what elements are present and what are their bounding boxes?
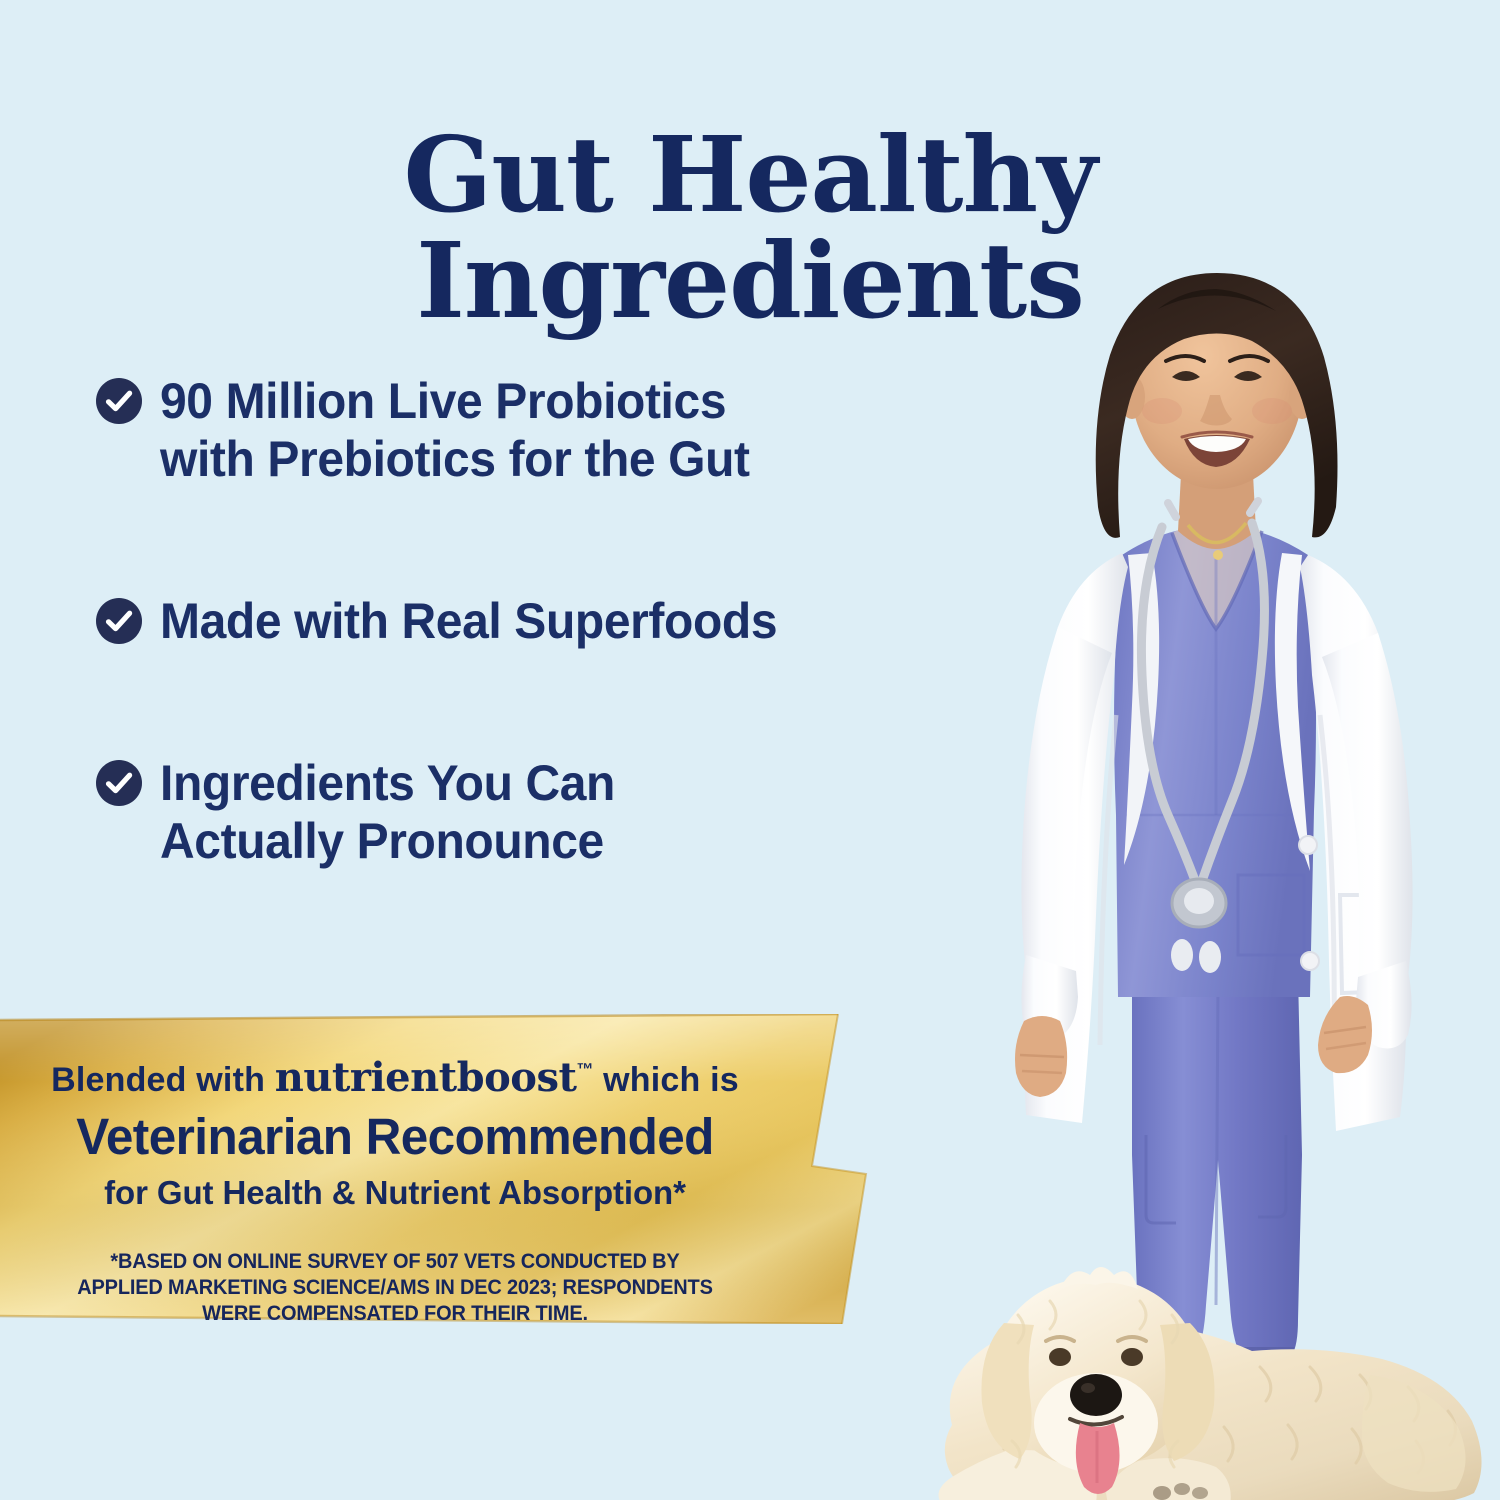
banner-footnote: *BASED ON ONLINE SURVEY OF 507 VETS COND… <box>28 1248 763 1327</box>
banner-line-1: Blended with nutrientboost™ which is <box>0 1054 790 1101</box>
benefit-text: Ingredients You Can Actually Pronounce <box>160 754 615 870</box>
page-title-line-1: Gut Healthy <box>403 113 1096 236</box>
list-item: 90 Million Live Probiotics with Prebioti… <box>96 372 956 488</box>
banner-line-1-prefix: Blended with <box>51 1061 265 1099</box>
page-title: Gut Healthy Ingredients <box>0 122 1500 334</box>
banner-content: Blended with nutrientboost™ which is Vet… <box>0 1014 790 1327</box>
benefit-line-1: 90 Million Live Probiotics <box>160 373 726 429</box>
trademark-symbol: ™ <box>576 1060 593 1079</box>
list-item: Made with Real Superfoods <box>96 592 956 650</box>
check-circle-icon <box>96 378 142 424</box>
banner-headline: Veterinarian Recommended <box>12 1107 778 1166</box>
banner-line-1-suffix: which is <box>603 1061 739 1099</box>
check-circle-icon <box>96 760 142 806</box>
benefit-line-2: Actually Pronounce <box>160 813 604 869</box>
benefit-line-1: Ingredients You Can <box>160 755 615 811</box>
veterinarian-and-dog-photo <box>900 255 1500 1500</box>
benefit-text: 90 Million Live Probiotics with Prebioti… <box>160 372 750 488</box>
benefit-line-1: Made with Real Superfoods <box>160 593 777 649</box>
page-title-line-2: Ingredients <box>0 228 1500 334</box>
benefit-text: Made with Real Superfoods <box>160 592 777 650</box>
vet-recommended-banner: Blended with nutrientboost™ which is Vet… <box>0 1014 880 1324</box>
product-feature-image: Gut Healthy Ingredients 90 Million Live … <box>0 0 1500 1500</box>
nutrientboost-wordmark: nutrientboost <box>275 1054 577 1101</box>
banner-subline: for Gut Health & Nutrient Absorption* <box>0 1174 790 1212</box>
benefits-list: 90 Million Live Probiotics with Prebioti… <box>96 372 956 870</box>
list-item: Ingredients You Can Actually Pronounce <box>96 754 956 870</box>
benefit-line-2: with Prebiotics for the Gut <box>160 431 750 487</box>
check-circle-icon <box>96 598 142 644</box>
